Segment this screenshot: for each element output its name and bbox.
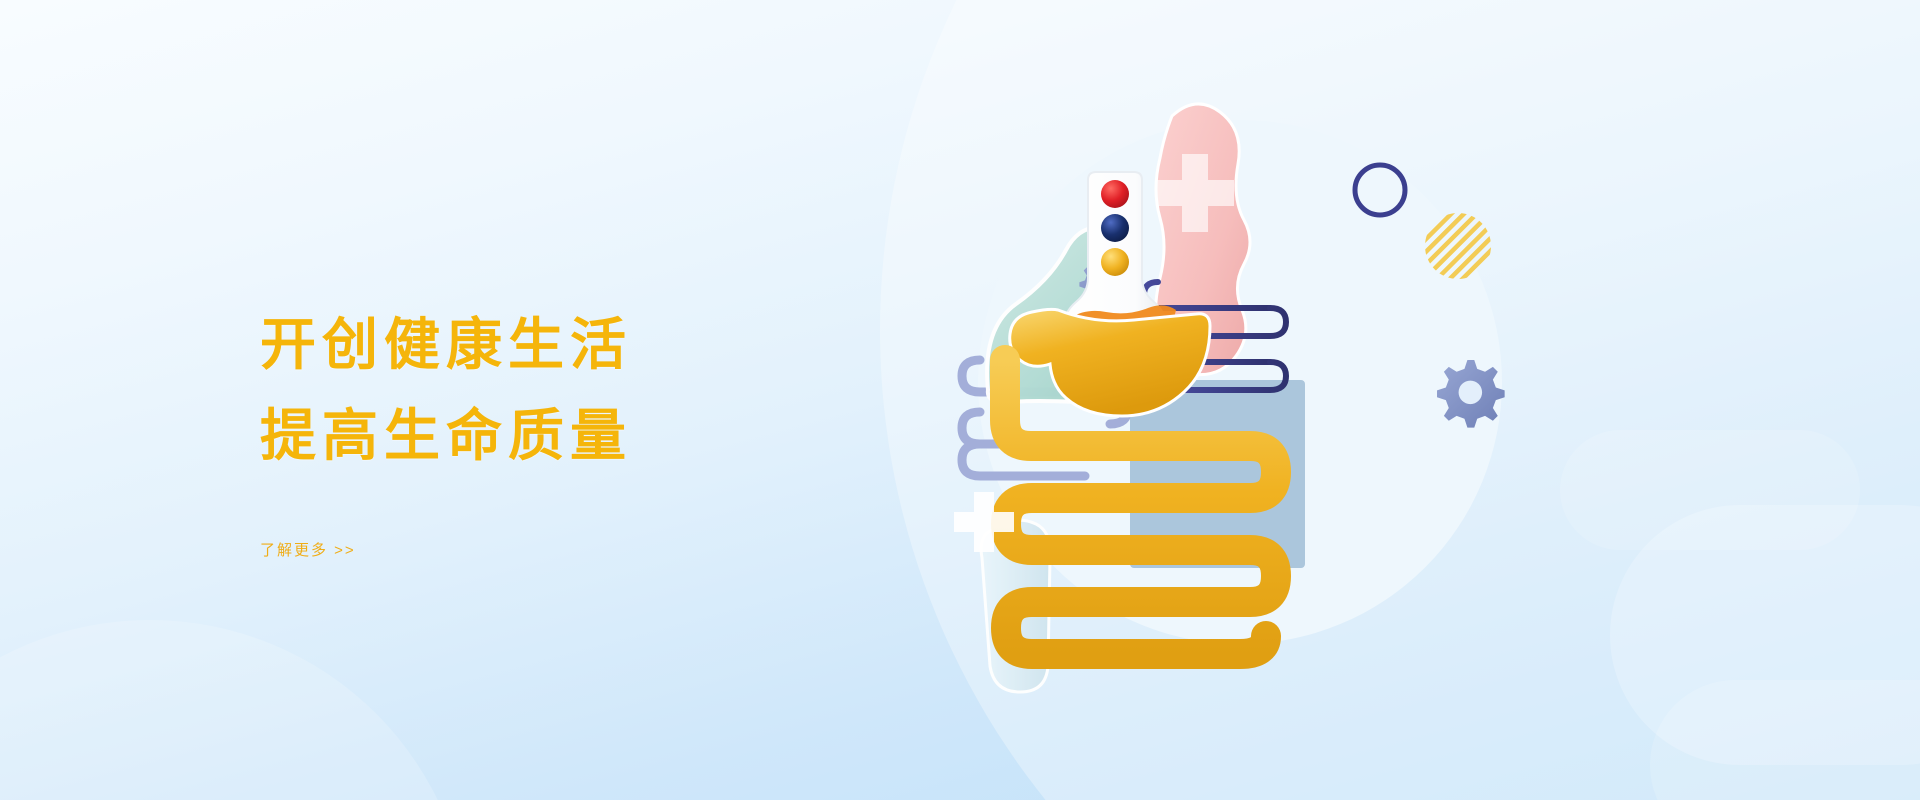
learn-more-link[interactable]: 了解更多 >> xyxy=(260,539,356,560)
sample-dot-navy xyxy=(1101,214,1129,242)
gear-icon-large xyxy=(1437,360,1505,428)
background-rounded-rect-1 xyxy=(1610,505,1920,765)
sample-dot-red xyxy=(1101,180,1129,208)
background-rounded-rect-2 xyxy=(1650,680,1920,800)
background-rounded-rect-3 xyxy=(1560,430,1860,550)
background-circle-bottom-left xyxy=(0,620,470,800)
headline-line-2: 提高生命质量 xyxy=(260,391,880,482)
digestive-system-illustration xyxy=(940,60,1600,740)
banner-copy: 开创健康生活 提高生命质量 了解更多 >> xyxy=(260,300,880,560)
sample-dot-yellow xyxy=(1101,248,1129,276)
headline-line-1: 开创健康生活 xyxy=(260,300,880,391)
health-banner: 开创健康生活 提高生命质量 了解更多 >> xyxy=(0,0,1920,800)
